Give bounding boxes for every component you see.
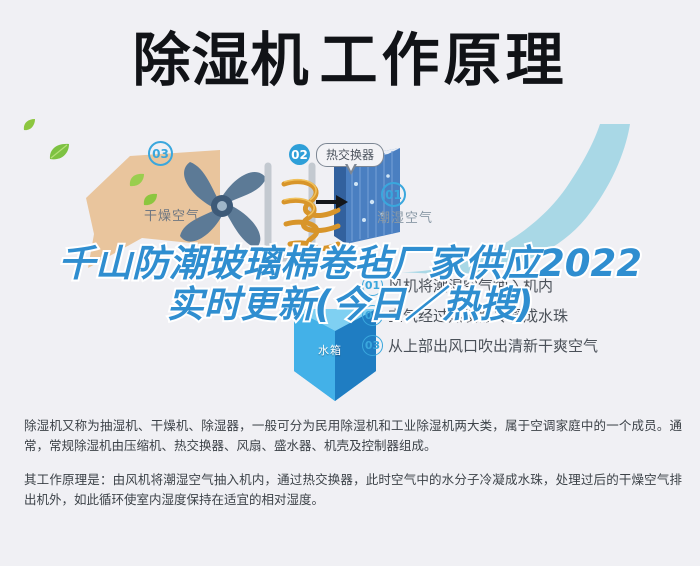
diagram-badge-02: 02 — [289, 144, 310, 165]
legend-badge-02: 02 — [362, 305, 383, 326]
diagram-badge-01: 01 — [381, 182, 406, 207]
water-tank-label: 水箱 — [318, 342, 342, 358]
legend-badge-03: 03 — [362, 335, 383, 356]
infographic-page: 除湿机工作原理 — [0, 0, 700, 566]
callout-tail-icon — [345, 164, 357, 175]
leaf-icon — [48, 142, 70, 162]
leaf-icon — [22, 118, 36, 132]
legend-item: 02 空气经过蒸发器冷凝成水珠 — [362, 305, 692, 326]
legend-text-02: 空气经过蒸发器冷凝成水珠 — [388, 305, 568, 326]
body-copy: 除湿机又称为抽湿机、干燥机、除湿器，一般可分为民用除湿机和工业除湿机两大类，属于… — [24, 416, 682, 517]
page-title: 除湿机工作原理 — [0, 28, 700, 92]
legend-item: 03 从上部出风口吹出清新干爽空气 — [362, 335, 692, 356]
legend-item: 01 风机将潮湿空气抽入机内 — [362, 275, 692, 296]
diagram-badge-03: 03 — [148, 141, 173, 166]
dry-air-label: 干燥空气 — [144, 205, 200, 224]
humid-air-label: 潮湿空气 — [377, 207, 433, 226]
paragraph-2: 其工作原理是：由风机将潮湿空气抽入机内，通过热交换器，此时空气中的水分子冷凝成水… — [24, 470, 682, 510]
paragraph-1: 除湿机又称为抽湿机、干燥机、除湿器，一般可分为民用除湿机和工业除湿机两大类，属于… — [24, 416, 682, 456]
diagram-legend: 01 风机将潮湿空气抽入机内 02 空气经过蒸发器冷凝成水珠 03 从上部出风口… — [362, 275, 692, 365]
humid-air-swoosh-icon — [398, 124, 648, 274]
legend-text-01: 风机将潮湿空气抽入机内 — [388, 275, 553, 296]
page-title-main: 除湿机 — [132, 26, 309, 94]
legend-badge-01: 01 — [362, 275, 383, 296]
leaf-icon — [128, 172, 145, 188]
page-title-sub: 工作原理 — [320, 26, 568, 94]
legend-text-03: 从上部出风口吹出清新干爽空气 — [388, 335, 598, 356]
